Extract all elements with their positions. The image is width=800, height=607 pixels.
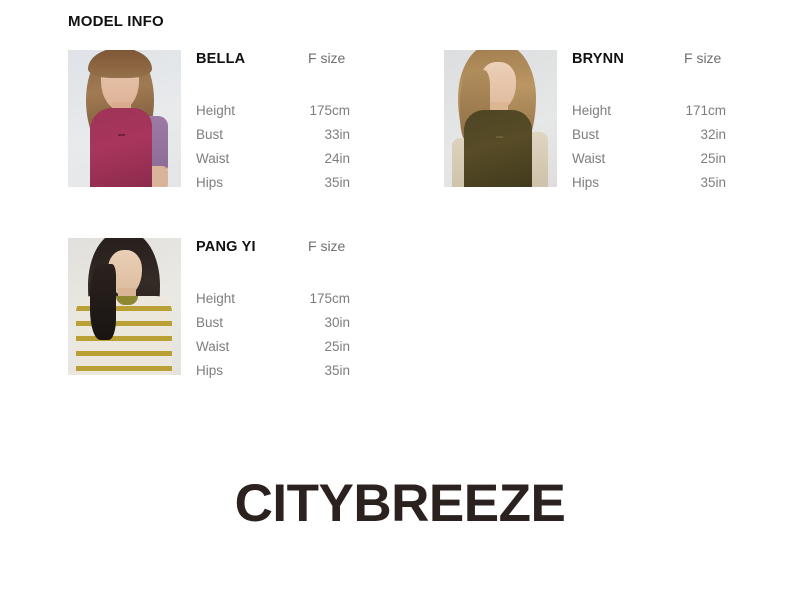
brand-wordmark: CITYBREEZE <box>0 477 800 530</box>
bella-model-photo <box>68 50 181 187</box>
spec-value: 175cm <box>309 291 350 306</box>
model-size: F size <box>308 238 345 254</box>
spec-value: 33in <box>324 127 350 142</box>
model-spec-table: Height 171cm Bust 32in Waist 25in Hips 3… <box>572 103 726 199</box>
spec-row: Height 175cm <box>196 291 350 315</box>
model-card-pangyi: PANG YI F size Height 175cm Bust 30in Wa… <box>68 238 444 426</box>
spec-label: Waist <box>196 339 229 354</box>
spec-row: Height 175cm <box>196 103 350 127</box>
model-card-brynn: BRYNN F size Height 171cm Bust 32in Wais… <box>444 50 800 238</box>
spec-label: Hips <box>196 363 223 378</box>
spec-label: Hips <box>572 175 599 190</box>
spec-value: 24in <box>324 151 350 166</box>
spec-label: Height <box>196 291 235 306</box>
model-header: BELLA F size <box>196 50 444 74</box>
spec-row: Waist 24in <box>196 151 350 175</box>
model-info-grid: BELLA F size Height 175cm Bust 33in Wais… <box>68 50 768 426</box>
spec-row: Height 171cm <box>572 103 726 127</box>
spec-label: Hips <box>196 175 223 190</box>
model-spec-table: Height 175cm Bust 30in Waist 25in Hips 3… <box>196 291 350 387</box>
spec-label: Height <box>196 103 235 118</box>
model-info-pangyi: PANG YI F size Height 175cm Bust 30in Wa… <box>181 238 444 387</box>
spec-label: Bust <box>196 127 223 142</box>
brynn-model-photo <box>444 50 557 187</box>
model-info-brynn: BRYNN F size Height 171cm Bust 32in Wais… <box>557 50 800 199</box>
model-name: BRYNN <box>572 51 684 67</box>
spec-value: 25in <box>700 151 726 166</box>
spec-label: Waist <box>196 151 229 166</box>
spec-value: 25in <box>324 339 350 354</box>
spec-label: Waist <box>572 151 605 166</box>
page-title: MODEL INFO <box>68 13 164 30</box>
spec-row: Waist 25in <box>196 339 350 363</box>
spec-row: Bust 32in <box>572 127 726 151</box>
model-info-bella: BELLA F size Height 175cm Bust 33in Wais… <box>181 50 444 199</box>
model-size: F size <box>308 50 345 66</box>
model-header: BRYNN F size <box>572 50 800 74</box>
spec-row: Hips 35in <box>196 175 350 199</box>
spec-value: 35in <box>324 363 350 378</box>
model-bangs <box>88 50 152 78</box>
spec-row: Bust 33in <box>196 127 350 151</box>
model-name: PANG YI <box>196 239 308 255</box>
spec-row: Hips 35in <box>572 175 726 199</box>
spec-value: 35in <box>324 175 350 190</box>
garment-logo-icon <box>118 134 125 136</box>
spec-label: Height <box>572 103 611 118</box>
spec-value: 30in <box>324 315 350 330</box>
spec-value: 32in <box>700 127 726 142</box>
spec-label: Bust <box>572 127 599 142</box>
spec-row: Bust 30in <box>196 315 350 339</box>
model-card-bella: BELLA F size Height 175cm Bust 33in Wais… <box>68 50 444 238</box>
model-garment <box>90 108 152 187</box>
pangyi-model-photo <box>68 238 181 375</box>
model-hair-strand <box>90 264 116 340</box>
spec-row: Hips 35in <box>196 363 350 387</box>
spec-value: 175cm <box>309 103 350 118</box>
spec-row: Waist 25in <box>572 151 726 175</box>
spec-value: 171cm <box>685 103 726 118</box>
model-name: BELLA <box>196 51 308 67</box>
model-spec-table: Height 175cm Bust 33in Waist 24in Hips 3… <box>196 103 350 199</box>
garment-logo-icon <box>496 136 503 138</box>
model-header: PANG YI F size <box>196 238 444 262</box>
spec-label: Bust <box>196 315 223 330</box>
spec-value: 35in <box>700 175 726 190</box>
model-size: F size <box>684 50 721 66</box>
model-garment <box>464 110 532 187</box>
